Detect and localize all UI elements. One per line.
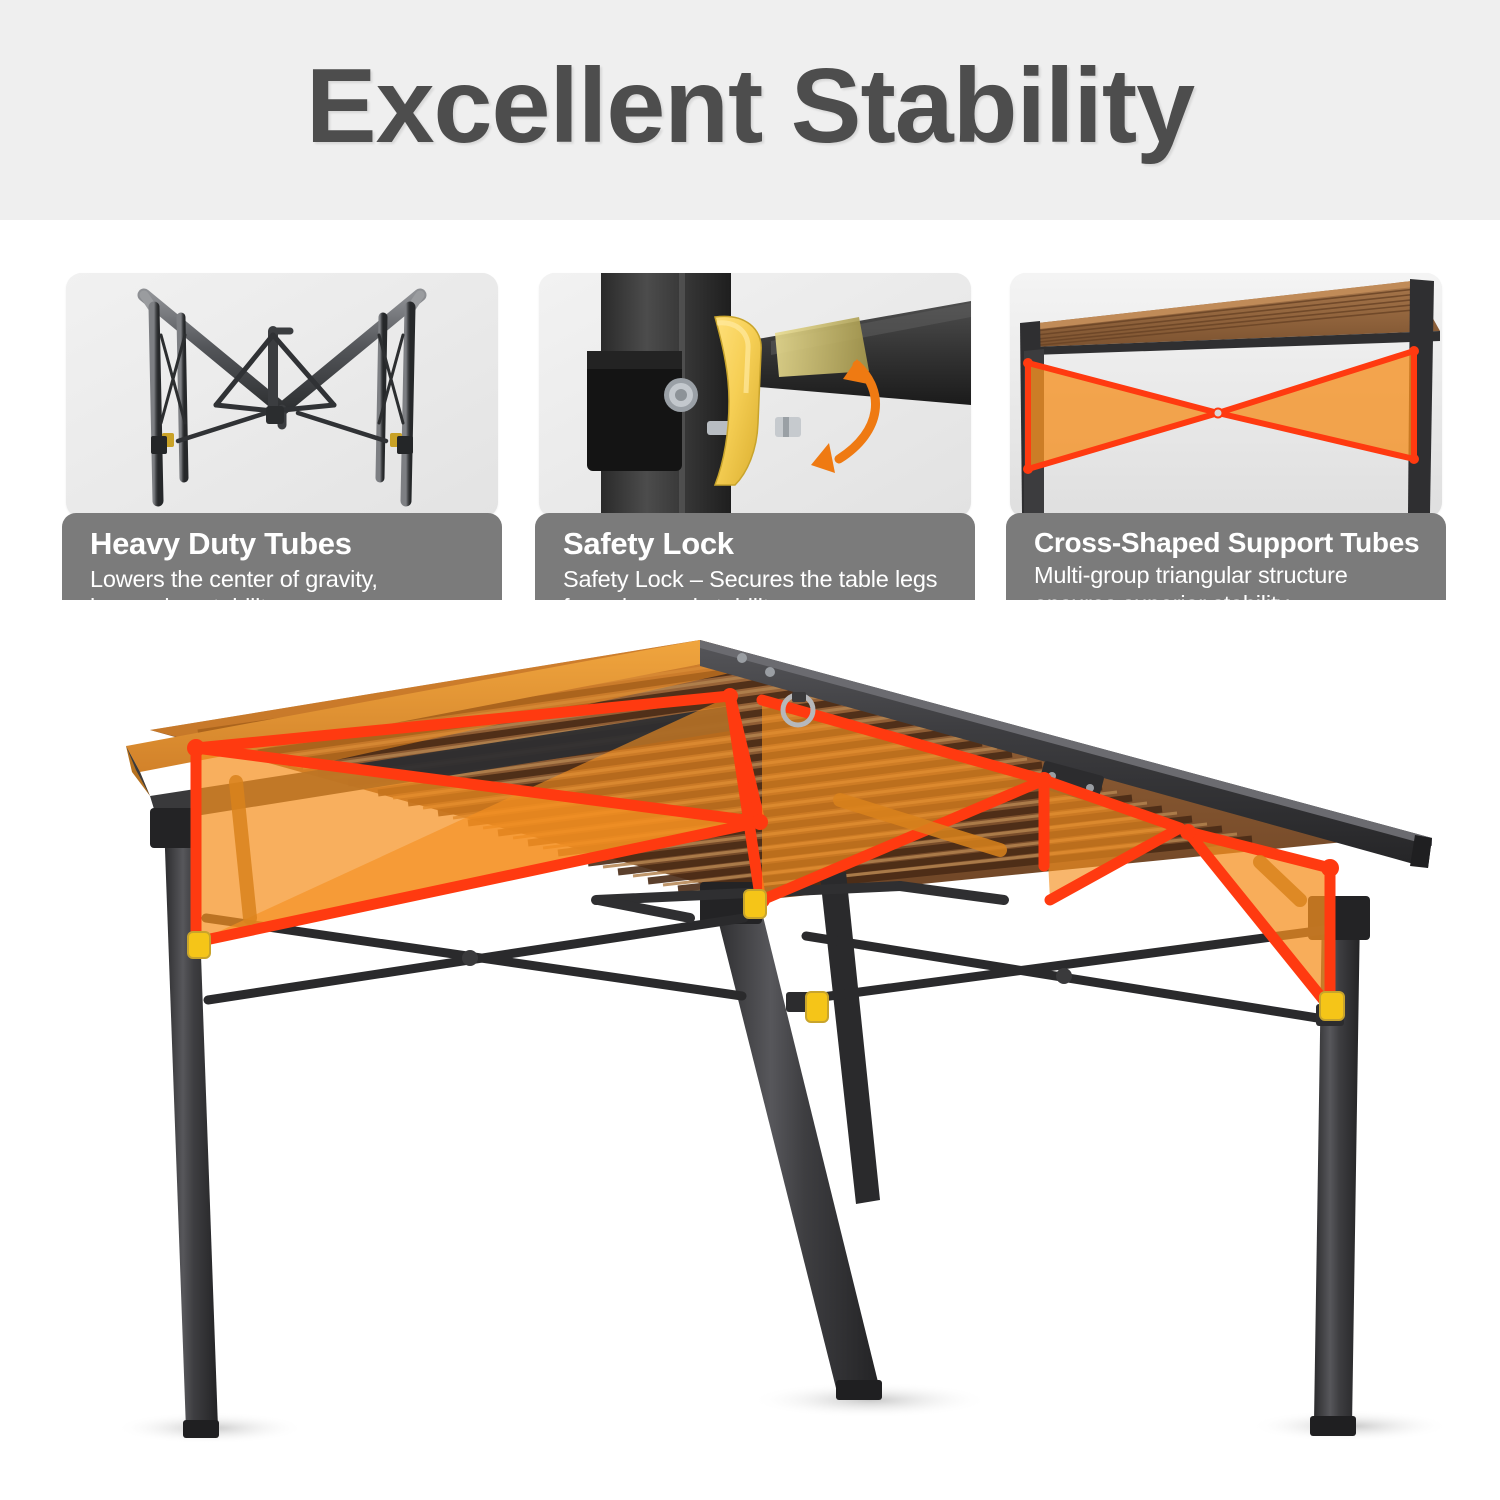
card-title: Heavy Duty Tubes (90, 527, 482, 562)
card-title: Cross-Shaped Support Tubes (1034, 527, 1426, 558)
hero-product-image (0, 600, 1500, 1500)
feature-cards-row: Heavy Duty Tubes Lowers the center of gr… (0, 268, 1500, 643)
thumbnail-safety-lock (539, 273, 971, 518)
folding-frame-illustration (66, 273, 498, 518)
card-title: Safety Lock (563, 527, 955, 562)
feature-card-cross-shaped-support-tubes[interactable]: Cross-Shaped Support Tubes Multi-group t… (1006, 268, 1446, 638)
safety-lock-illustration (539, 273, 971, 518)
hero-table-illustration (0, 600, 1500, 1500)
page-title: Excellent Stability (0, 46, 1500, 168)
feature-card-safety-lock[interactable]: Safety Lock Safety Lock – Secures the ta… (535, 268, 975, 638)
cross-brace-illustration (1010, 273, 1442, 518)
feature-card-heavy-duty-tubes[interactable]: Heavy Duty Tubes Lowers the center of gr… (62, 268, 502, 638)
thumbnail-folding-frame (66, 273, 498, 518)
thumbnail-cross-brace (1010, 273, 1442, 518)
